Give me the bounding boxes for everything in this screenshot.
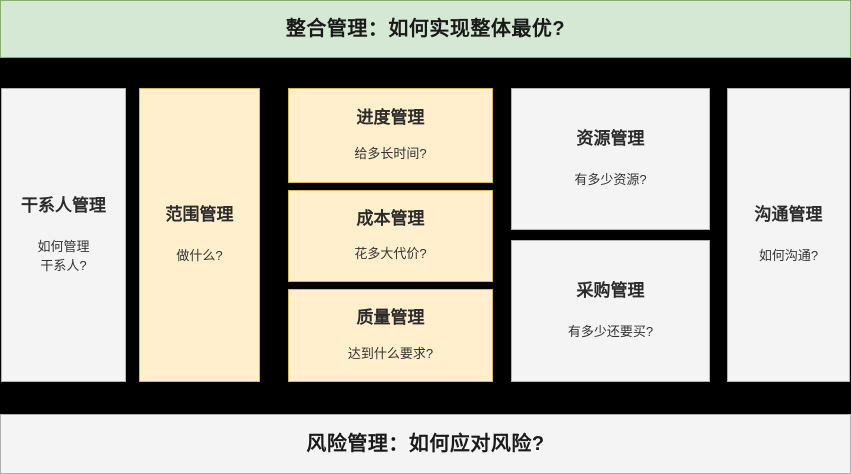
card-communication-title: 沟通管理	[755, 204, 823, 225]
card-resource-title: 资源管理	[577, 128, 645, 149]
card-schedule-title: 进度管理	[357, 107, 425, 128]
card-stakeholder-title: 干系人管理	[21, 195, 106, 216]
card-quality-management[interactable]: 质量管理 达到什么要求?	[288, 289, 493, 382]
banner-risk-title: 风险管理：如何应对风险?	[306, 432, 544, 456]
card-cost-subtitle: 花多大代价?	[354, 245, 426, 264]
card-quality-title: 质量管理	[357, 307, 425, 328]
card-communication-management[interactable]: 沟通管理 如何沟通?	[727, 88, 850, 382]
card-stakeholder-subtitle: 如何管理 干系人?	[37, 238, 89, 276]
card-schedule-subtitle: 给多长时间?	[354, 145, 426, 164]
card-scope-management[interactable]: 范围管理 做什么?	[139, 88, 260, 382]
banner-risk-management[interactable]: 风险管理：如何应对风险?	[0, 414, 851, 474]
card-schedule-management[interactable]: 进度管理 给多长时间?	[288, 88, 493, 183]
card-communication-subtitle: 如何沟通?	[759, 247, 818, 266]
card-quality-subtitle: 达到什么要求?	[348, 345, 433, 364]
card-resource-subtitle: 有多少资源?	[574, 171, 646, 190]
card-stakeholder-management[interactable]: 干系人管理 如何管理 干系人?	[1, 88, 126, 382]
card-scope-subtitle: 做什么?	[176, 247, 222, 266]
diagram-canvas: 整合管理：如何实现整体最优? 干系人管理 如何管理 干系人? 范围管理 做什么?…	[0, 0, 851, 474]
card-cost-management[interactable]: 成本管理 花多大代价?	[288, 190, 493, 282]
card-procurement-management[interactable]: 采购管理 有多少还要买?	[511, 240, 710, 382]
card-cost-title: 成本管理	[357, 208, 425, 229]
card-procurement-title: 采购管理	[577, 280, 645, 301]
card-resource-management[interactable]: 资源管理 有多少资源?	[511, 88, 710, 230]
banner-integration-title: 整合管理：如何实现整体最优?	[286, 17, 565, 41]
card-scope-title: 范围管理	[166, 204, 234, 225]
banner-integration-management[interactable]: 整合管理：如何实现整体最优?	[0, 0, 851, 58]
card-procurement-subtitle: 有多少还要买?	[568, 323, 653, 342]
